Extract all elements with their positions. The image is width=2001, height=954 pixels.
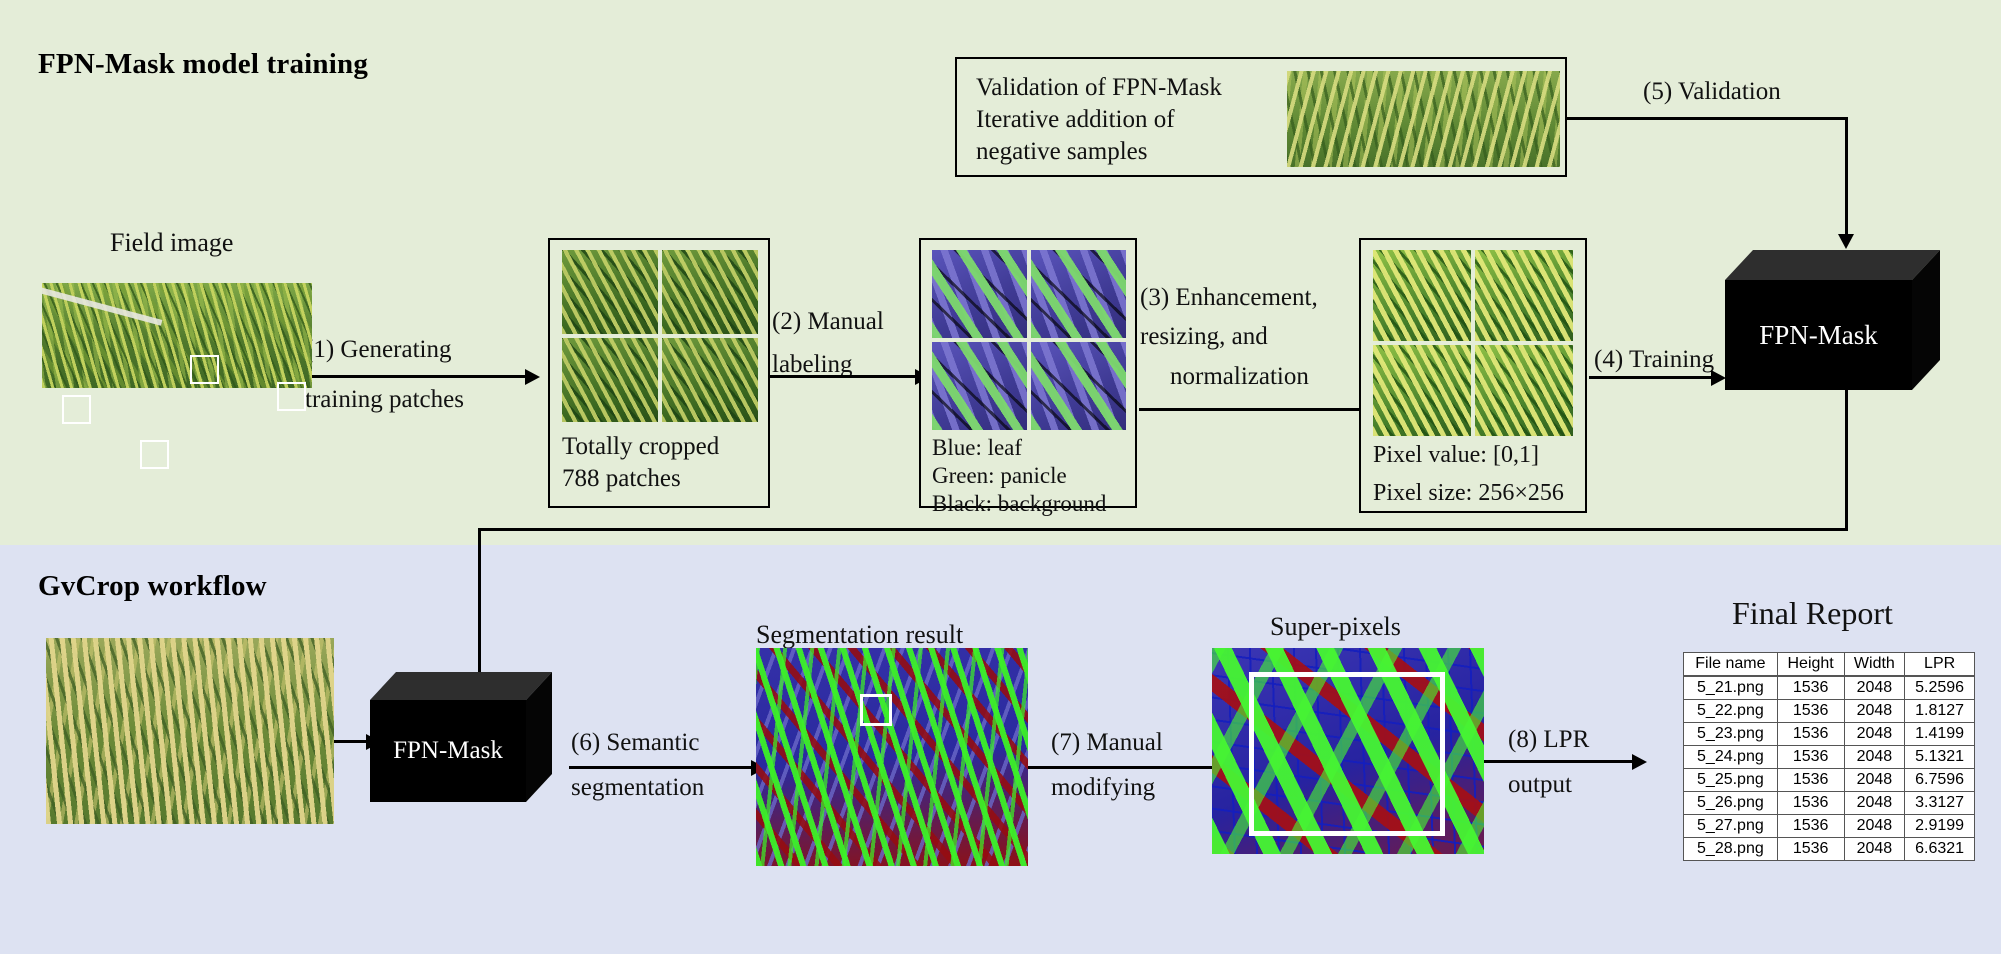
arrow-6-line xyxy=(569,766,751,769)
segmentation-roi-box xyxy=(860,694,892,726)
mask-grid xyxy=(932,250,1126,430)
validation-panel: Validation of FPN-Mask Iterative additio… xyxy=(955,57,1567,177)
step-3-line-3: normalization xyxy=(1170,360,1309,393)
step-7-line-1: (7) Manual xyxy=(1051,726,1163,759)
arrow-3-line xyxy=(1139,408,1369,411)
cell-filename: 5_24.png xyxy=(1684,746,1778,769)
cube-top-face xyxy=(370,672,552,700)
patch-thumb xyxy=(562,250,658,334)
model-to-workflow-hline xyxy=(478,528,1848,531)
cell-width: 2048 xyxy=(1844,769,1905,792)
step-5-label: (5) Validation xyxy=(1643,75,1781,108)
cube-front-face: FPN-Mask xyxy=(1725,280,1912,390)
legend-black: Black: background xyxy=(932,489,1106,519)
table-row: 5_27.png 1536 2048 2.9199 xyxy=(1684,815,1975,838)
mask-thumb xyxy=(1031,250,1126,338)
legend-blue: Blue: leaf xyxy=(932,433,1022,463)
field-image-label: Field image xyxy=(110,228,233,258)
table-body: 5_21.png 1536 2048 5.2596 5_22.png 1536 … xyxy=(1684,676,1975,861)
figure-canvas: FPN-Mask model training Validation of FP… xyxy=(0,0,2001,954)
normalization-panel: Pixel value: [0,1] Pixel size: 256×256 xyxy=(1359,238,1587,513)
arrow-1-head xyxy=(525,369,540,385)
step-2-line-1: (2) Manual xyxy=(772,305,884,338)
patches-caption-2: 788 patches xyxy=(562,462,681,495)
final-report-table: File name Height Width LPR 5_21.png 1536… xyxy=(1683,652,1975,861)
label-panel: Blue: leaf Green: panicle Black: backgro… xyxy=(919,238,1137,508)
arrow-5-head xyxy=(1838,234,1854,249)
cell-width: 2048 xyxy=(1844,676,1905,700)
field-image-photo xyxy=(42,283,312,388)
normalized-grid xyxy=(1373,250,1573,436)
cell-filename: 5_21.png xyxy=(1684,676,1778,700)
cell-width: 2048 xyxy=(1844,700,1905,723)
model-to-workflow-vline xyxy=(1845,390,1848,531)
arrow-1-line xyxy=(303,375,525,378)
cell-width: 2048 xyxy=(1844,792,1905,815)
fpn-mask-training-label: FPN-Mask xyxy=(1759,320,1878,351)
mask-thumb xyxy=(1031,342,1126,430)
cell-filename: 5_25.png xyxy=(1684,769,1778,792)
cell-height: 1536 xyxy=(1777,769,1844,792)
field-roi-3 xyxy=(140,440,169,469)
cell-lpr: 5.1321 xyxy=(1905,746,1975,769)
cell-lpr: 1.4199 xyxy=(1905,723,1975,746)
segmentation-title: Segmentation result xyxy=(756,620,963,650)
normalized-thumb xyxy=(1373,345,1471,436)
table-row: 5_22.png 1536 2048 1.8127 xyxy=(1684,700,1975,723)
cell-lpr: 6.6321 xyxy=(1905,838,1975,861)
step-7-line-2: modifying xyxy=(1051,771,1155,804)
arrow-5-vline xyxy=(1845,117,1848,236)
cell-height: 1536 xyxy=(1777,792,1844,815)
column-header-lpr: LPR xyxy=(1905,653,1975,677)
normalized-thumb xyxy=(1475,345,1573,436)
table-row: 5_23.png 1536 2048 1.4199 xyxy=(1684,723,1975,746)
cell-filename: 5_27.png xyxy=(1684,815,1778,838)
legend-green: Green: panicle xyxy=(932,461,1067,491)
pixel-size-caption: Pixel size: 256×256 xyxy=(1373,478,1564,510)
arrow-8-head xyxy=(1632,754,1647,770)
arrow-4-head xyxy=(1711,370,1726,386)
field-roi-4 xyxy=(277,382,306,411)
cell-lpr: 1.8127 xyxy=(1905,700,1975,723)
validation-line-3: negative samples xyxy=(976,135,1147,168)
step-1-line-2: training patches xyxy=(305,383,464,416)
column-header-height: Height xyxy=(1777,653,1844,677)
cell-lpr: 3.3127 xyxy=(1905,792,1975,815)
normalized-thumb xyxy=(1475,250,1573,341)
segmentation-result-image xyxy=(756,648,1028,866)
cell-width: 2048 xyxy=(1844,838,1905,861)
patch-thumb xyxy=(662,250,758,334)
cube-front-face: FPN-Mask xyxy=(370,700,526,802)
step-6-line-2: segmentation xyxy=(571,771,704,804)
cell-height: 1536 xyxy=(1777,676,1844,700)
arrow-input-line xyxy=(334,740,366,743)
arrow-5-hline xyxy=(1567,117,1848,120)
patches-grid xyxy=(562,250,758,422)
field-roi-1 xyxy=(190,355,219,384)
step-6-line-1: (6) Semantic xyxy=(571,726,699,759)
table-row: 5_21.png 1536 2048 5.2596 xyxy=(1684,676,1975,700)
training-band-title: FPN-Mask model training xyxy=(38,48,368,81)
field-pole-icon xyxy=(42,285,162,326)
normalized-thumb xyxy=(1373,250,1471,341)
cell-lpr: 6.7596 xyxy=(1905,769,1975,792)
mask-thumb xyxy=(932,250,1027,338)
fpn-mask-workflow-label: FPN-Mask xyxy=(393,737,503,765)
workflow-drop-vline xyxy=(478,528,481,676)
cell-width: 2048 xyxy=(1844,746,1905,769)
fpn-mask-model-training: FPN-Mask xyxy=(1725,250,1975,390)
fpn-mask-model-workflow: FPN-Mask xyxy=(370,672,570,802)
table-row: 5_26.png 1536 2048 3.3127 xyxy=(1684,792,1975,815)
cell-filename: 5_22.png xyxy=(1684,700,1778,723)
final-report-title: Final Report xyxy=(1732,595,1893,632)
cell-height: 1536 xyxy=(1777,815,1844,838)
cell-height: 1536 xyxy=(1777,838,1844,861)
cell-filename: 5_28.png xyxy=(1684,838,1778,861)
validation-line-2: Iterative addition of xyxy=(976,103,1175,136)
cell-lpr: 2.9199 xyxy=(1905,815,1975,838)
cell-filename: 5_26.png xyxy=(1684,792,1778,815)
cell-filename: 5_23.png xyxy=(1684,723,1778,746)
cell-lpr: 5.2596 xyxy=(1905,676,1975,700)
workflow-band-title: GvCrop workflow xyxy=(38,570,267,603)
step-1-line-1: (1) Generating xyxy=(305,333,451,366)
step-8-line-2: output xyxy=(1508,768,1572,801)
patch-thumb xyxy=(562,338,658,422)
superpixels-roi-box xyxy=(1249,672,1445,836)
cell-height: 1536 xyxy=(1777,723,1844,746)
cell-width: 2048 xyxy=(1844,815,1905,838)
table-row: 5_24.png 1536 2048 5.1321 xyxy=(1684,746,1975,769)
patches-panel: Totally cropped 788 patches xyxy=(548,238,770,508)
step-3-line-1: (3) Enhancement, xyxy=(1140,281,1318,314)
table-row: 5_28.png 1536 2048 6.6321 xyxy=(1684,838,1975,861)
field-roi-2 xyxy=(62,395,91,424)
cube-top-face xyxy=(1725,250,1940,280)
step-3-line-2: resizing, and xyxy=(1140,320,1268,353)
cell-height: 1536 xyxy=(1777,746,1844,769)
patches-caption-1: Totally cropped xyxy=(562,430,719,463)
table-header-row: File name Height Width LPR xyxy=(1684,653,1975,677)
column-header-filename: File name xyxy=(1684,653,1778,677)
arrow-8-line xyxy=(1484,760,1632,763)
patch-thumb xyxy=(662,338,758,422)
mask-thumb xyxy=(932,342,1027,430)
table-row: 5_25.png 1536 2048 6.7596 xyxy=(1684,769,1975,792)
pixel-value-caption: Pixel value: [0,1] xyxy=(1373,440,1539,472)
column-header-width: Width xyxy=(1844,653,1905,677)
cell-height: 1536 xyxy=(1777,700,1844,723)
validation-line-1: Validation of FPN-Mask xyxy=(976,71,1222,104)
input-field-photo xyxy=(46,638,334,824)
cell-width: 2048 xyxy=(1844,723,1905,746)
arrow-7-line xyxy=(1028,766,1213,769)
step-4-label: (4) Training xyxy=(1594,343,1714,376)
arrow-2-line xyxy=(770,375,915,378)
validation-field-photo xyxy=(1287,71,1560,167)
superpixels-title: Super-pixels xyxy=(1270,612,1401,642)
arrow-4-line xyxy=(1589,376,1711,379)
step-8-line-1: (8) LPR xyxy=(1508,723,1589,756)
